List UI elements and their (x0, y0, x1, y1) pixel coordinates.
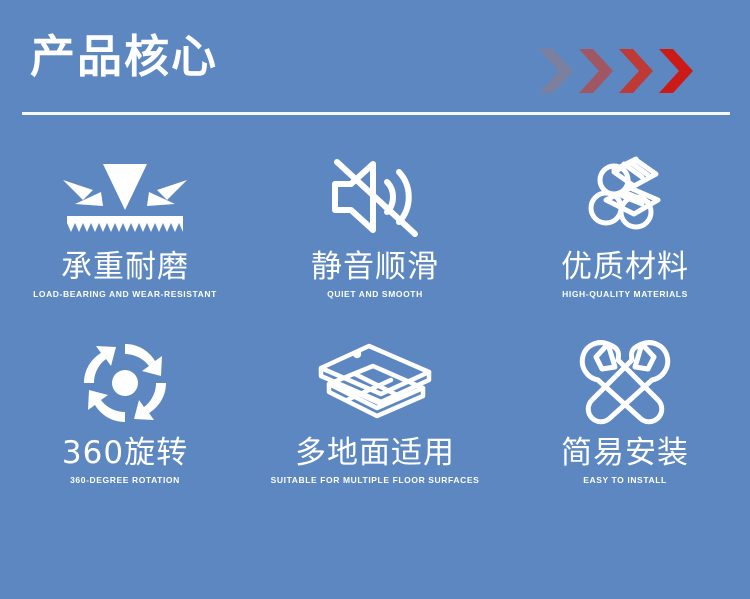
feature-label-en: HIGH-QUALITY MATERIALS (562, 289, 688, 299)
feature-item-install: 简易安装 EASY TO INSTALL (500, 335, 750, 520)
banner-header: 产品核心 (0, 0, 750, 118)
feature-label-cn: 静音顺滑 (311, 251, 439, 284)
chevron-right-icon (617, 47, 655, 95)
feature-label-en: SUITABLE FOR MULTIPLE FLOOR SURFACES (271, 475, 480, 485)
feature-label-en: EASY TO INSTALL (583, 475, 667, 485)
icon-container (578, 335, 672, 431)
page-title: 产品核心 (30, 34, 218, 79)
feature-label-en: LOAD-BEARING AND WEAR-RESISTANT (33, 289, 217, 299)
product-core-banner: 产品核心 (0, 0, 750, 599)
mute-speaker-icon (329, 156, 421, 240)
feature-item-floors: 多地面适用 SUITABLE FOR MULTIPLE FLOOR SURFAC… (250, 335, 500, 520)
feature-item-rotation: 360旋转 360-DEGREE ROTATION (0, 335, 250, 520)
feature-label-cn: 优质材料 (561, 251, 689, 284)
icon-container (580, 150, 670, 245)
feature-label-en: 360-DEGREE ROTATION (70, 475, 180, 485)
feature-label-cn: 承重耐磨 (61, 251, 189, 284)
feature-label-en: QUIET AND SMOOTH (327, 289, 423, 299)
feature-label-cn: 多地面适用 (295, 437, 455, 470)
icon-container (311, 335, 439, 431)
icon-container (329, 150, 421, 245)
feature-item-materials: 优质材料 HIGH-QUALITY MATERIALS (500, 150, 750, 335)
header-divider (22, 112, 730, 115)
feature-item-load-bearing: 承重耐磨 LOAD-BEARING AND WEAR-RESISTANT (0, 150, 250, 335)
chevron-right-icon (657, 47, 695, 95)
load-bearing-icon (61, 158, 189, 238)
chevron-right-icon (537, 47, 575, 95)
icon-container (78, 335, 172, 431)
crossed-wrenches-icon (578, 338, 672, 428)
stacked-pipes-icon (580, 156, 670, 240)
feature-label-cn: 360旋转 (62, 437, 188, 470)
icon-container (61, 150, 189, 245)
feature-item-quiet: 静音顺滑 QUIET AND SMOOTH (250, 150, 500, 335)
floor-layers-icon (311, 340, 439, 426)
rotation-360-icon (78, 338, 172, 428)
feature-grid: 承重耐磨 LOAD-BEARING AND WEAR-RESISTANT 静音顺… (0, 150, 750, 520)
feature-label-cn: 简易安装 (561, 437, 689, 470)
chevron-right-icon (577, 47, 615, 95)
chevron-arrows-decoration (537, 47, 695, 95)
